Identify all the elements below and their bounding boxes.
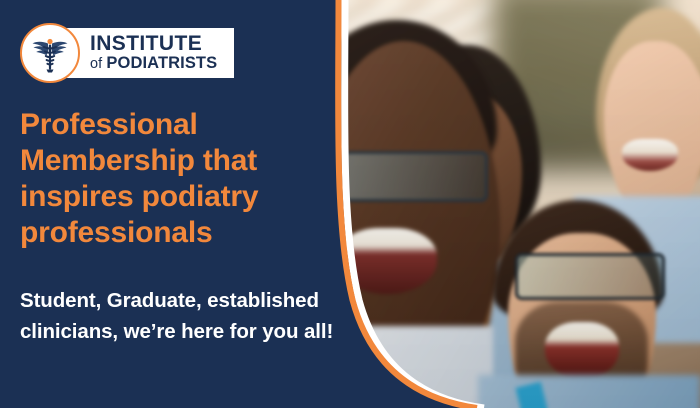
caduceus-orb — [47, 39, 52, 44]
caduceus-base — [47, 70, 54, 73]
logo-line-podiatrists: of PODIATRISTS — [90, 54, 234, 74]
subheading: Student, Graduate, established clinician… — [20, 285, 350, 347]
logo-wordmark-plate: INSTITUTE of PODIATRISTS — [62, 28, 234, 78]
caduceus-winged-icon — [20, 23, 80, 83]
page-title: Professional Membership that inspires po… — [20, 107, 320, 251]
logo-word-podiatrists: PODIATRISTS — [106, 54, 217, 72]
institute-logo[interactable]: INSTITUTE of PODIATRISTS — [20, 23, 235, 83]
logo-line-institute: INSTITUTE — [90, 33, 234, 54]
logo-word-of: of — [90, 56, 106, 72]
membership-promo-banner: INSTITUTE of PODIATRISTS — [0, 0, 700, 408]
